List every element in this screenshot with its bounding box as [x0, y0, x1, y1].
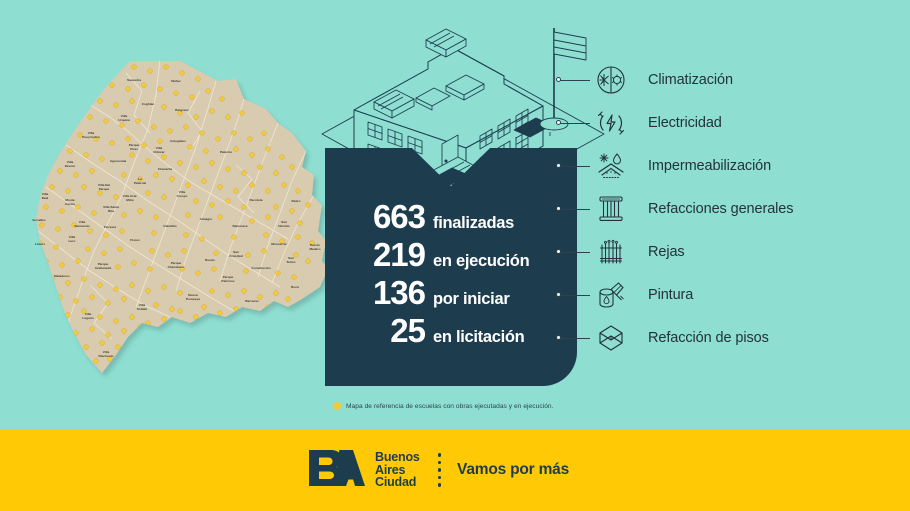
legend-label: Impermeabilización: [648, 158, 771, 174]
infographic-canvas: SaavedraNúñezCoghlanBelgranoVillaUrquiza…: [0, 0, 910, 511]
stats-list: 663 finalizadas 219 en ejecución 136 por…: [325, 200, 577, 352]
legend-item-refacciones-generales[interactable]: Refacciones generales: [588, 187, 910, 230]
connector-line: [560, 166, 590, 167]
footnote-text: Mapa de referencia de escuelas con obras…: [346, 403, 554, 410]
stat-row: 219 en ejecución: [325, 238, 577, 271]
stat-label: en ejecución: [433, 253, 529, 270]
barrio-label: Floresta: [104, 225, 116, 229]
stat-row: 663 finalizadas: [325, 200, 577, 233]
legend-item-impermeabilizacion[interactable]: Impermeabilización: [588, 144, 910, 187]
stat-number: 219: [347, 238, 425, 271]
stat-label: por iniciar: [433, 291, 509, 308]
legend-label: Rejas: [648, 244, 685, 260]
footer-tagline: Vamos por más: [457, 461, 569, 479]
barrio-label: Barracas: [245, 299, 259, 303]
climate-control-icon: [588, 64, 634, 96]
connector-line: [560, 295, 590, 296]
wordmark-line-3: Ciudad: [375, 476, 420, 488]
barrio-label: Belgrano: [175, 108, 189, 112]
barrio-label: Caballito: [163, 224, 176, 228]
barrio-label: Agronomía: [110, 159, 127, 163]
legend-label: Climatización: [648, 72, 733, 88]
barrio-label: Almagro: [200, 217, 213, 221]
connector-line: [560, 209, 590, 210]
legend-label: Refacciones generales: [648, 201, 793, 217]
barrio-label: MonteCastro: [65, 198, 75, 206]
barrio-label: Palermo: [220, 150, 232, 154]
wordmark-line-1: Buenos: [375, 451, 420, 463]
railings-icon: [588, 236, 634, 268]
barrio-label: Constitución: [251, 266, 270, 270]
barrio-label: Mataderos: [54, 274, 70, 278]
legend-item-pintura[interactable]: Pintura: [588, 273, 910, 316]
waterproofing-icon: [588, 150, 634, 182]
stat-label: finalizadas: [433, 215, 514, 232]
legend-label: Pintura: [648, 287, 693, 303]
legend-dot-icon: [333, 402, 341, 410]
buenos-aires-map: SaavedraNúñezCoghlanBelgranoVillaUrquiza…: [30, 55, 340, 400]
legend-label: Electricidad: [648, 115, 722, 131]
stat-row: 136 por iniciar: [325, 276, 577, 309]
barrio-label: Colegiales: [170, 139, 186, 143]
stat-row: 25 en licitación: [325, 314, 577, 347]
barrio-label: VillaLuro: [69, 235, 76, 243]
general-repairs-icon: [588, 193, 634, 225]
works-legend: Climatización Electricidad: [588, 58, 910, 359]
ba-logo: [305, 446, 369, 495]
barrio-label: Coghlan: [142, 102, 155, 106]
stat-number: 25: [347, 314, 425, 347]
stat-number: 663: [347, 200, 425, 233]
floor-repair-icon: [588, 323, 634, 353]
barrio-label: Boedo: [205, 258, 215, 262]
stat-number: 136: [347, 276, 425, 309]
connector-line: [560, 123, 590, 124]
barrio-label: Retiro: [291, 199, 300, 203]
electricity-icon: [588, 107, 634, 139]
barrio-label: Recoleta: [249, 198, 262, 202]
painting-icon: [588, 279, 634, 311]
legend-item-climatizacion[interactable]: Climatización: [588, 58, 910, 101]
ba-wordmark: Buenos Aires Ciudad: [375, 451, 420, 488]
barrio-label: Núñez: [171, 79, 181, 83]
barrio-label: Saavedra: [127, 78, 141, 82]
barrio-label: Chacarita: [158, 167, 173, 171]
dotted-separator-icon: [438, 453, 441, 487]
connector-line: [560, 252, 590, 253]
barrio-label: VillaReal: [42, 192, 49, 200]
connector-line: [560, 80, 590, 81]
map-footnote: Mapa de referencia de escuelas con obras…: [333, 402, 554, 410]
legend-item-rejas[interactable]: Rejas: [588, 230, 910, 273]
stat-label: en licitación: [433, 329, 524, 346]
legend-item-refaccion-de-pisos[interactable]: Refacción de pisos: [588, 316, 910, 359]
barrio-label: PuertoMadero: [309, 243, 320, 251]
barrio-label: Balvanera: [233, 224, 248, 228]
barrio-label: Flores: [130, 238, 140, 242]
barrio-label: Villa DelParque: [98, 183, 110, 191]
legend-label: Refacción de pisos: [648, 330, 769, 346]
barrio-label: Monserrat: [271, 242, 286, 246]
barrio-label: Boca: [291, 285, 299, 289]
barrio-label: ParquePatricios: [221, 275, 235, 283]
connector-line: [560, 338, 590, 339]
footer-branding: Buenos Aires Ciudad Vamos por más: [305, 429, 569, 511]
barrio-label: Liniers: [35, 242, 46, 246]
footer-bar: Buenos Aires Ciudad Vamos por más: [0, 429, 910, 511]
legend-item-electricidad[interactable]: Electricidad: [588, 101, 910, 144]
barrio-label: Versalles: [32, 218, 46, 222]
